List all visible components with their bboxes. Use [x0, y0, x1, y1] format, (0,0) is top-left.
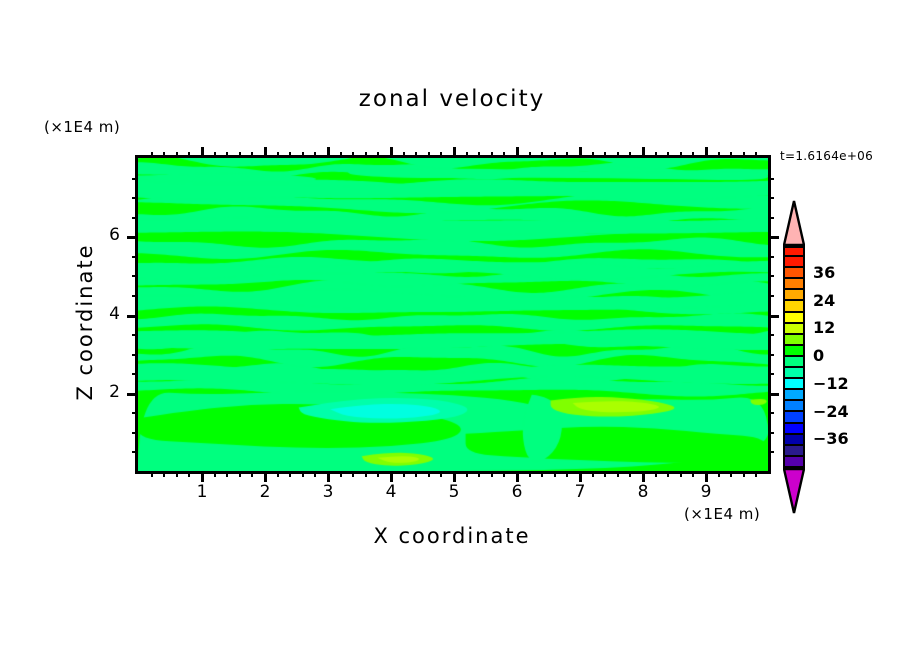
x-minor-tick: [365, 152, 367, 158]
colorbar-band: [783, 457, 805, 468]
x-axis-tick-label: 6: [502, 482, 532, 502]
x-minor-tick: [743, 152, 745, 158]
colorbar-tick-label: 12: [813, 318, 835, 337]
y-minor-tick: [768, 275, 774, 277]
y-minor-tick: [132, 295, 138, 297]
colorbar-band: [783, 257, 805, 268]
x-minor-tick: [188, 471, 190, 477]
y-minor-tick: [768, 354, 774, 356]
x-minor-tick: [466, 152, 468, 158]
x-minor-tick: [503, 152, 505, 158]
x-minor-tick: [692, 471, 694, 477]
x-minor-tick: [440, 471, 442, 477]
x-minor-tick: [289, 152, 291, 158]
x-minor-tick: [604, 152, 606, 158]
x-axis-tick-label: 8: [628, 482, 658, 502]
x-minor-tick: [743, 471, 745, 477]
y-major-tick: [768, 393, 779, 396]
y-axis-tick-label: 4: [90, 304, 120, 324]
x-minor-tick: [214, 152, 216, 158]
colorbar-band: [783, 368, 805, 379]
x-minor-tick: [529, 152, 531, 158]
colorbar-band: [783, 335, 805, 346]
x-minor-tick: [163, 471, 165, 477]
timestamp-label: t=1.6164e+06: [780, 149, 873, 163]
x-minor-tick: [592, 471, 594, 477]
x-minor-tick: [403, 471, 405, 477]
x-major-tick: [516, 471, 519, 482]
x-minor-tick: [302, 152, 304, 158]
x-minor-tick: [277, 152, 279, 158]
colorbar-band: [783, 412, 805, 423]
x-minor-tick: [604, 471, 606, 477]
x-minor-tick: [680, 471, 682, 477]
y-minor-tick: [768, 432, 774, 434]
x-minor-tick: [655, 152, 657, 158]
x-major-tick: [642, 147, 645, 158]
x-minor-tick: [440, 152, 442, 158]
x-major-tick: [390, 147, 393, 158]
x-minor-tick: [629, 471, 631, 477]
colorbar-band: [783, 301, 805, 312]
x-minor-tick: [214, 471, 216, 477]
x-minor-tick: [617, 152, 619, 158]
y-minor-tick: [132, 334, 138, 336]
y-minor-tick: [768, 373, 774, 375]
y-minor-tick: [768, 256, 774, 258]
y-minor-tick: [132, 373, 138, 375]
x-axis-tick-label: 7: [565, 482, 595, 502]
y-minor-tick: [768, 412, 774, 414]
x-minor-tick: [239, 152, 241, 158]
x-minor-tick: [541, 152, 543, 158]
x-minor-tick: [226, 152, 228, 158]
y-minor-tick: [132, 275, 138, 277]
colorbar-band: [783, 246, 805, 257]
x-major-tick: [705, 471, 708, 482]
x-axis-tick-label: 9: [691, 482, 721, 502]
x-minor-tick: [718, 152, 720, 158]
x-minor-tick: [730, 152, 732, 158]
x-minor-tick: [755, 471, 757, 477]
x-minor-tick: [491, 152, 493, 158]
y-major-tick: [127, 236, 138, 239]
x-major-tick: [264, 147, 267, 158]
x-minor-tick: [491, 471, 493, 477]
x-minor-tick: [629, 152, 631, 158]
x-minor-tick: [554, 152, 556, 158]
colorbar-band: [783, 346, 805, 357]
colorbar-tick-label: −12: [813, 374, 849, 393]
x-major-tick: [705, 147, 708, 158]
y-axis-tick-label: 6: [90, 225, 120, 245]
x-minor-tick: [314, 152, 316, 158]
x-major-tick: [579, 471, 582, 482]
x-major-tick: [453, 147, 456, 158]
x-axis-tick-label: 5: [439, 482, 469, 502]
colorbar-band: [783, 279, 805, 290]
colorbar-band: [783, 290, 805, 301]
x-minor-tick: [617, 471, 619, 477]
colorbar-band: [783, 390, 805, 401]
x-minor-tick: [541, 471, 543, 477]
x-minor-tick: [176, 471, 178, 477]
y-minor-tick: [132, 354, 138, 356]
x-major-tick: [264, 471, 267, 482]
colorbar-band: [783, 424, 805, 435]
x-minor-tick: [302, 471, 304, 477]
colorbar-band: [783, 313, 805, 324]
x-minor-tick: [566, 471, 568, 477]
x-minor-tick: [151, 471, 153, 477]
x-minor-tick: [755, 152, 757, 158]
y-minor-tick: [132, 178, 138, 180]
x-major-tick: [453, 471, 456, 482]
contour-field-canvas: [138, 158, 768, 471]
colorbar-tick-label: −36: [813, 429, 849, 448]
x-major-tick: [201, 471, 204, 482]
colorbar-band: [783, 268, 805, 279]
y-minor-tick: [768, 217, 774, 219]
x-major-tick: [327, 147, 330, 158]
colorbar-band: [783, 446, 805, 457]
colorbar-band: [783, 379, 805, 390]
x-major-tick: [390, 471, 393, 482]
x-minor-tick: [680, 152, 682, 158]
x-minor-tick: [428, 152, 430, 158]
x-minor-tick: [226, 471, 228, 477]
x-minor-tick: [730, 471, 732, 477]
x-minor-tick: [340, 152, 342, 158]
colorbar-over-cap: [783, 200, 805, 246]
x-major-tick: [579, 147, 582, 158]
colorbar-under-arrow-icon: [783, 468, 805, 514]
x-minor-tick: [365, 471, 367, 477]
x-minor-tick: [251, 152, 253, 158]
x-minor-tick: [151, 152, 153, 158]
x-axis-tick-label: 3: [313, 482, 343, 502]
y-minor-tick: [132, 217, 138, 219]
x-minor-tick: [478, 152, 480, 158]
colorbar-band: [783, 357, 805, 368]
x-minor-tick: [718, 471, 720, 477]
x-minor-tick: [289, 471, 291, 477]
colorbar-under-cap: [783, 468, 805, 514]
x-minor-tick: [415, 152, 417, 158]
x-minor-tick: [415, 471, 417, 477]
colorbar-tick-label: 36: [813, 263, 835, 282]
x-minor-tick: [403, 152, 405, 158]
x-minor-tick: [554, 471, 556, 477]
y-minor-tick: [132, 412, 138, 414]
colorbar-tick-label: 0: [813, 346, 824, 365]
x-major-tick: [642, 471, 645, 482]
y-minor-tick: [768, 451, 774, 453]
colorbar-tick-label: −24: [813, 402, 849, 421]
x-major-tick: [516, 147, 519, 158]
x-minor-tick: [667, 471, 669, 477]
x-minor-tick: [377, 471, 379, 477]
x-axis-tick-label: 4: [376, 482, 406, 502]
y-minor-tick: [768, 197, 774, 199]
x-minor-tick: [188, 152, 190, 158]
x-minor-tick: [692, 152, 694, 158]
x-minor-tick: [592, 152, 594, 158]
y-minor-tick: [132, 256, 138, 258]
x-minor-tick: [529, 471, 531, 477]
x-major-tick: [201, 147, 204, 158]
colorbar: [783, 246, 805, 468]
y-minor-tick: [768, 178, 774, 180]
x-minor-tick: [239, 471, 241, 477]
x-minor-tick: [277, 471, 279, 477]
x-major-tick: [327, 471, 330, 482]
x-minor-tick: [667, 152, 669, 158]
x-minor-tick: [566, 152, 568, 158]
x-minor-tick: [340, 471, 342, 477]
y-major-tick: [127, 315, 138, 318]
x-minor-tick: [503, 471, 505, 477]
colorbar-tick-label: 24: [813, 291, 835, 310]
contour-plot-area: [135, 155, 771, 474]
colorbar-band: [783, 401, 805, 412]
y-major-tick: [768, 236, 779, 239]
page-title: zonal velocity: [0, 86, 904, 112]
y-axis-tick-label: 2: [90, 382, 120, 402]
y-minor-tick: [768, 295, 774, 297]
x-minor-tick: [466, 471, 468, 477]
y-minor-tick: [768, 334, 774, 336]
x-minor-tick: [352, 152, 354, 158]
x-minor-tick: [163, 152, 165, 158]
x-axis-unit-label: (×1E4 m): [684, 505, 760, 523]
x-minor-tick: [377, 152, 379, 158]
x-axis-tick-label: 2: [250, 482, 280, 502]
x-minor-tick: [314, 471, 316, 477]
colorbar-over-arrow-icon: [783, 200, 805, 246]
y-minor-tick: [132, 432, 138, 434]
y-major-tick: [768, 315, 779, 318]
colorbar-band: [783, 435, 805, 446]
x-axis-tick-label: 1: [187, 482, 217, 502]
x-minor-tick: [352, 471, 354, 477]
x-minor-tick: [428, 471, 430, 477]
y-minor-tick: [132, 451, 138, 453]
y-axis-unit-label: (×1E4 m): [44, 118, 120, 136]
x-minor-tick: [655, 471, 657, 477]
x-axis-title: X coordinate: [0, 524, 904, 548]
x-minor-tick: [251, 471, 253, 477]
y-minor-tick: [132, 197, 138, 199]
x-minor-tick: [176, 152, 178, 158]
colorbar-band: [783, 324, 805, 335]
x-minor-tick: [478, 471, 480, 477]
y-major-tick: [127, 393, 138, 396]
